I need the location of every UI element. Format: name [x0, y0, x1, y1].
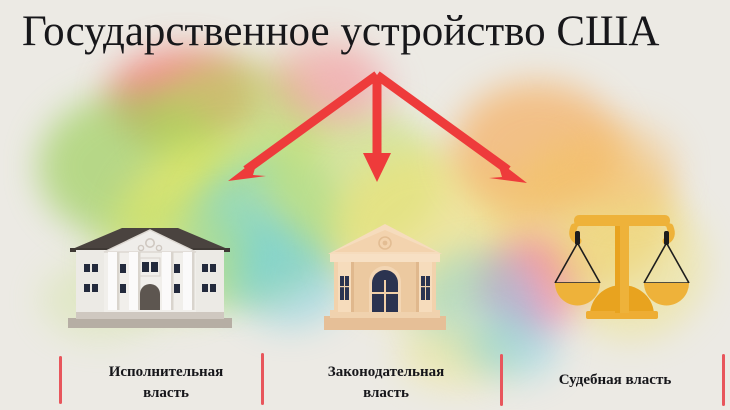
- slide-canvas: Государственное устройство США: [0, 0, 730, 410]
- arrow-to-judicial: [377, 75, 527, 183]
- divider-right: [722, 354, 725, 406]
- branch-label-judicial: Судебная власть: [520, 370, 710, 391]
- branch-label-executive: Исполнительная власть: [74, 362, 258, 404]
- divider-mid-right: [500, 354, 503, 406]
- branch-label-legislative-line1: Законодательная: [288, 362, 484, 383]
- arrow-to-executive: [228, 75, 377, 181]
- divider-left: [59, 356, 62, 404]
- branch-label-legislative-line2: власть: [288, 383, 484, 404]
- branch-label-legislative: Законодательная власть: [288, 362, 484, 404]
- branch-label-judicial-line1: Судебная власть: [520, 370, 710, 391]
- branch-label-executive-line2: власть: [74, 383, 258, 404]
- scales-of-justice-icon: [552, 203, 692, 325]
- arrow-to-legislative: [363, 75, 391, 182]
- divider-mid-left: [261, 353, 264, 405]
- capitol-building-icon: [322, 218, 448, 336]
- branch-label-executive-line1: Исполнительная: [74, 362, 258, 383]
- white-house-icon: [62, 222, 238, 334]
